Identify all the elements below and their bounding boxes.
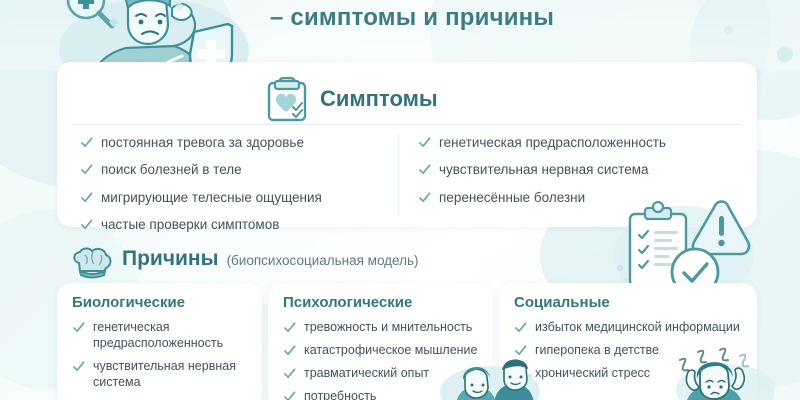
list-item: чувствительная нервная система (418, 161, 738, 178)
check-icon (80, 136, 93, 149)
decorative-dot (777, 46, 793, 62)
card-title: Биологические (72, 294, 252, 311)
causes-subtitle: (биопсихосоциальная модель) (227, 253, 419, 268)
list-item: генетическая предрасположенность (418, 134, 738, 151)
check-icon (283, 367, 296, 380)
check-icon (72, 360, 85, 373)
list-item-label: травматический опыт (304, 365, 429, 381)
list-item-label: генетическая предрасположенность (439, 134, 666, 151)
symptoms-divider (72, 124, 742, 125)
list-item-label: гиперопека в детстве (535, 342, 659, 358)
check-icon (514, 321, 527, 334)
causes-header: Причины (биопсихосоциальная модель) (70, 247, 419, 279)
list-item-label: чувствительная нервная система (439, 161, 649, 178)
card-title: Психологические (283, 294, 493, 311)
brain-icon (70, 247, 114, 279)
infographic-canvas: – симптомы и причины Симптомы постоянная… (0, 0, 800, 400)
list-item: поиск болезней в теле (80, 161, 390, 178)
stressed-woman-illustration (664, 346, 774, 400)
check-icon (283, 321, 296, 334)
list-item-label: генетическая предрасположенность (93, 319, 252, 351)
check-icon (283, 390, 296, 400)
list-item: чувствительная нервная система (72, 358, 252, 390)
list-item-label: хронический стресс (535, 365, 650, 381)
list-item: мигрирующие телесные ощущения (80, 189, 390, 206)
couple-illustration (432, 352, 542, 400)
list-item-label: тревожность и мнительность (304, 319, 472, 335)
check-icon (80, 218, 93, 231)
check-icon (72, 321, 85, 334)
list-item: тревожность и мнительность (283, 319, 493, 335)
list-item: генетическая предрасположенность (72, 319, 252, 351)
biological-content: Биологические генетическая предрасположе… (72, 294, 252, 397)
symptoms-header: Симптомы (266, 76, 438, 122)
list-item-label: чувствительная нервная система (93, 358, 252, 390)
causes-title: Причины (122, 247, 219, 271)
list-item-label: частые проверки симптомов (101, 216, 279, 233)
list-item-label: постоянная тревога за здоровье (101, 134, 304, 151)
check-icon (80, 163, 93, 176)
list-item-label: перенесённые болезни (439, 189, 585, 206)
card-title: Социальные (514, 294, 746, 311)
check-icon (283, 344, 296, 357)
symptoms-left-list: постоянная тревога за здоровье поиск бол… (80, 134, 390, 243)
check-icon (418, 136, 431, 149)
page-title: – симптомы и причины (270, 4, 790, 32)
list-item: избыток медицинской информации (514, 319, 746, 335)
list-item-label: потребность (304, 388, 376, 400)
check-icon (418, 191, 431, 204)
check-icon (418, 163, 431, 176)
list-item-label: поиск болезней в теле (101, 161, 242, 178)
list-item: постоянная тревога за здоровье (80, 134, 390, 151)
list-item-label: мигрирующие телесные ощущения (101, 189, 322, 206)
symptoms-title: Симптомы (320, 86, 438, 112)
list-item: частые проверки симптомов (80, 216, 390, 233)
list-item-label: избыток медицинской информации (535, 319, 740, 335)
clipboard-heart-icon (266, 76, 308, 122)
check-icon (80, 191, 93, 204)
symptoms-column-divider (398, 134, 399, 216)
